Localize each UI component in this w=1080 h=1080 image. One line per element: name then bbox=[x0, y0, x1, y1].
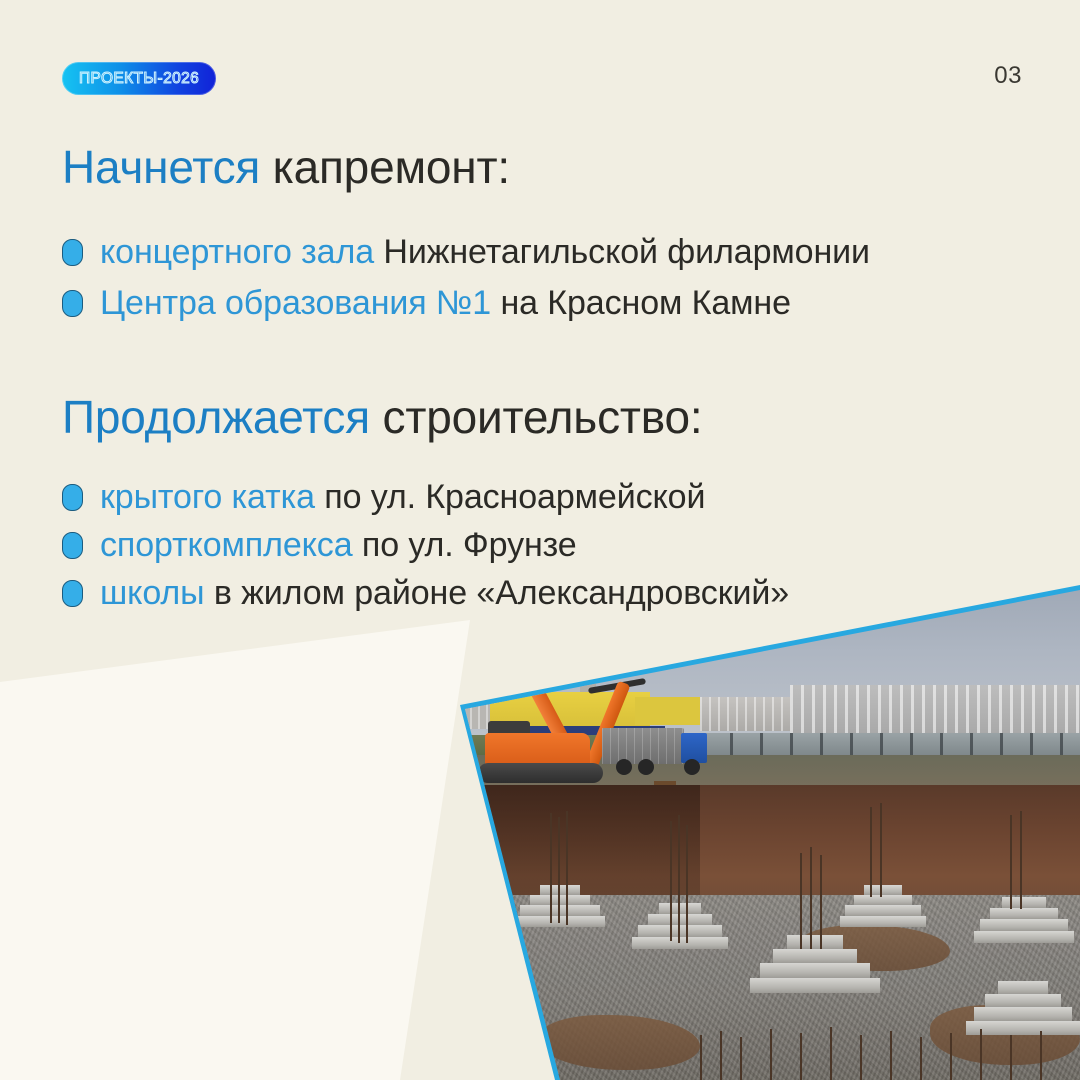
projects-badge-label: ПРОЕКТЫ-2026 bbox=[79, 70, 199, 88]
projects-badge[interactable]: ПРОЕКТЫ-2026 bbox=[62, 62, 216, 95]
list-item: крытого катка по ул. Красноармейской bbox=[62, 478, 789, 517]
heading-construction: Продолжается строительство: bbox=[62, 390, 702, 444]
list-item-rest: по ул. Красноармейской bbox=[315, 478, 705, 516]
heading-rest: строительство: bbox=[370, 391, 702, 443]
slide-root: ПРОЕКТЫ-2026 03 Начнется капремонт: конц… bbox=[0, 0, 1080, 1080]
dump-truck-wheel bbox=[684, 759, 700, 775]
list-item-highlight: Центра образования №1 bbox=[100, 284, 491, 322]
heading-highlight: Начнется bbox=[62, 141, 260, 193]
list-item-text: крытого катка по ул. Красноармейской bbox=[100, 478, 705, 517]
list-item-highlight: спорткомплекса bbox=[100, 526, 353, 564]
photo-apartment-blocks bbox=[790, 685, 1080, 733]
photo-mid-buildings bbox=[700, 697, 800, 731]
list-item: концертного зала Нижнетагильской филармо… bbox=[62, 233, 870, 272]
foundation-pad bbox=[422, 967, 508, 1017]
list-item-highlight: концертного зала bbox=[100, 233, 374, 271]
photo-yellow-building-2 bbox=[635, 697, 705, 725]
bullet-dot-icon bbox=[62, 580, 83, 607]
list-item-rest: в жилом районе «Александровский» bbox=[204, 574, 789, 612]
decorative-white-wedge bbox=[0, 620, 560, 1080]
list-item-highlight: крытого катка bbox=[100, 478, 315, 516]
list-item-text: Центра образования №1 на Красном Камне bbox=[100, 284, 791, 323]
bullet-dot-icon bbox=[62, 290, 83, 317]
foundation-pad bbox=[632, 903, 728, 949]
list-item: школы в жилом районе «Александровский» bbox=[62, 574, 789, 613]
list-item-text: спорткомплекса по ул. Фрунзе bbox=[100, 526, 577, 565]
dump-truck-wheel bbox=[638, 759, 654, 775]
construction-photo bbox=[370, 585, 1080, 1080]
foundation-pad bbox=[750, 935, 880, 993]
list-item: Центра образования №1 на Красном Камне bbox=[62, 284, 870, 323]
dump-truck-wheel bbox=[616, 759, 632, 775]
bullet-dot-icon bbox=[62, 239, 83, 266]
page-number: 03 bbox=[994, 62, 1022, 90]
excavator-body bbox=[485, 733, 590, 767]
bullet-list-construction: крытого катка по ул. Красноармейской спо… bbox=[62, 478, 789, 613]
list-item-text: школы в жилом районе «Александровский» bbox=[100, 574, 789, 613]
list-item: спорткомплекса по ул. Фрунзе bbox=[62, 526, 789, 565]
list-item-highlight: школы bbox=[100, 574, 204, 612]
foundation-pad bbox=[840, 885, 926, 927]
list-item-rest: Нижнетагильской филармонии bbox=[374, 233, 870, 271]
heading-capital-repair: Начнется капремонт: bbox=[62, 140, 510, 194]
bullet-dot-icon bbox=[62, 532, 83, 559]
foundation-pad bbox=[515, 885, 605, 927]
list-item-text: концертного зала Нижнетагильской филармо… bbox=[100, 233, 870, 272]
excavator-track bbox=[478, 763, 603, 783]
heading-highlight: Продолжается bbox=[62, 391, 370, 443]
foundation-pad bbox=[974, 897, 1074, 943]
heading-rest: капремонт: bbox=[260, 141, 510, 193]
bullet-dot-icon bbox=[62, 484, 83, 511]
bullet-list-capital-repair: концертного зала Нижнетагильской филармо… bbox=[62, 233, 870, 323]
foundation-pad bbox=[966, 981, 1080, 1035]
list-item-rest: по ул. Фрунзе bbox=[353, 526, 577, 564]
list-item-rest: на Красном Камне bbox=[491, 284, 791, 322]
